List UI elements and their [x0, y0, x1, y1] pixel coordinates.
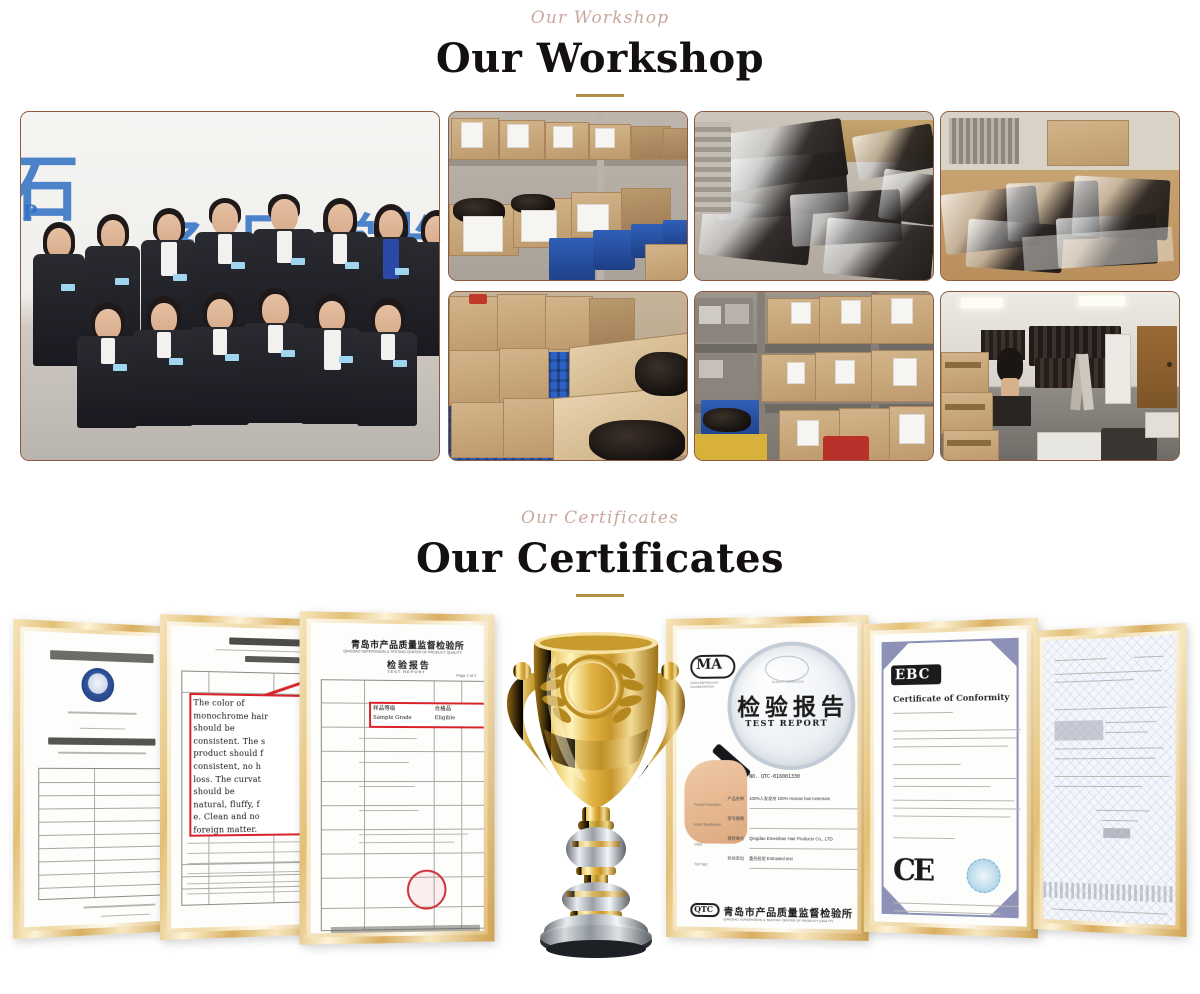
photo-open-cartons-on-pallets[interactable] — [448, 291, 688, 461]
workshop-gallery: 石 OP 多 口 学 米 — [0, 111, 1200, 471]
ce-mark-icon: CE — [893, 853, 932, 889]
conformity-title: Certificate of Conformity — [893, 693, 1009, 705]
report-title-en: QINGDAO SUPERVISION & TESTING CENTER OF … — [337, 649, 468, 655]
photo-showroom-wall-display[interactable] — [940, 291, 1180, 461]
photo-packing-table-hair-bags[interactable] — [940, 111, 1180, 281]
workshop-divider — [576, 94, 624, 97]
certificates-divider — [576, 594, 624, 597]
certificates-main-title: Our Certificates — [0, 536, 1200, 582]
workshop-heading: Our Workshop Our Workshop — [0, 10, 1200, 97]
report-number: NO. QTC-016001330 — [749, 774, 800, 780]
photo-packaged-hair-bundles[interactable] — [694, 111, 934, 281]
certificate-guilloche-document-certificate[interactable] — [1033, 623, 1186, 937]
conformity-seal-icon — [967, 858, 1001, 893]
product-detail-page: Our Workshop Our Workshop 石 OP 多 口 学 米 — [0, 0, 1200, 994]
assessment-seal-icon — [82, 667, 115, 702]
workshop-main-title: Our Workshop — [0, 36, 1200, 82]
certificate-ce-certificate-of-conformity[interactable]: EBC Certificate of Conformity CE — [864, 618, 1038, 939]
photo-team-group-photo[interactable]: 石 OP 多 口 学 米 — [20, 111, 440, 461]
gold-trophy — [486, 609, 706, 981]
report-page: Page 1 of 2 — [456, 673, 476, 678]
ebc-brand: EBC — [895, 666, 930, 683]
photo-warehouse-shelving-bins[interactable] — [448, 111, 688, 281]
certificates-display: The color of monochrome hair should be c… — [0, 613, 1200, 994]
workshop-script-title: Our Workshop — [0, 10, 1200, 27]
certificate-alibaba-assessed-supplier-certificate[interactable] — [13, 619, 175, 939]
workshop-section: Our Workshop Our Workshop 石 OP 多 口 学 米 — [0, 10, 1200, 471]
sample-grade-label-cn: 样品等级 — [373, 704, 395, 712]
report-label-en: TEST REPORT — [387, 669, 426, 674]
certificate-product-quality-test-report[interactable]: 青岛市产品质量监督检验所 QINGDAO SUPERVISION & TESTI… — [300, 611, 495, 944]
certificates-script-title: Our Certificates — [0, 510, 1200, 527]
sample-grade-value-en: Eligible — [435, 715, 456, 721]
row-label-0: 产品名称 — [727, 796, 744, 802]
certificates-section: Our Certificates Our Certificates — [0, 510, 1200, 994]
report-label-en: TEST REPORT — [745, 718, 828, 729]
photo-storage-racks-cartons[interactable] — [694, 291, 934, 461]
sample-grade-label-en: Sample Grade — [373, 715, 412, 721]
sample-grade-value-cn: 合格品 — [435, 704, 452, 712]
footer-title-en: QINGDAO SUPERVISION & TESTING CENTER OF … — [724, 917, 856, 923]
certificates-heading: Our Certificates Our Certificates — [0, 510, 1200, 597]
